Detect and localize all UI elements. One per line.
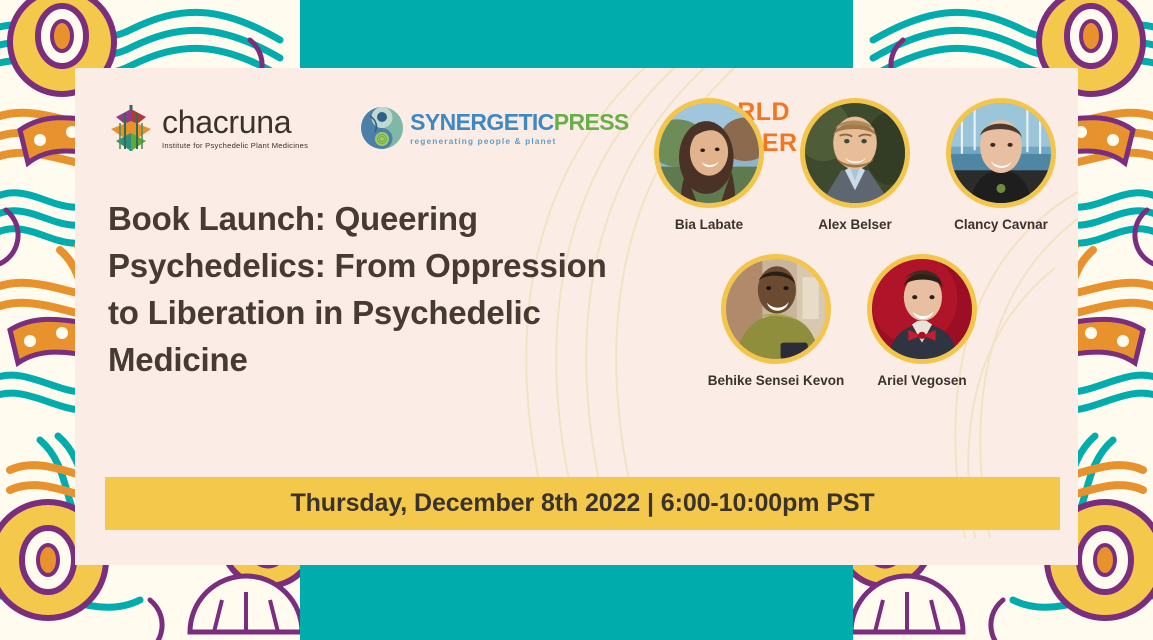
synergetic-circle-icon: [360, 106, 404, 150]
speaker-clancy-cavnar[interactable]: Clancy Cavnar: [941, 98, 1061, 232]
chacruna-wordmark: chacruna: [162, 106, 291, 138]
speaker-name: Bia Labate: [675, 217, 743, 232]
content-card: chacruna Institute for Psychedelic Plant…: [75, 68, 1078, 565]
speaker-alex-belser[interactable]: Alex Belser: [795, 98, 915, 232]
event-datetime: Thursday, December 8th 2022 | 6:00-10:00…: [290, 489, 874, 518]
speaker-grid: Bia Labate: [635, 98, 1075, 388]
logo-chacruna[interactable]: chacruna Institute for Psychedelic Plant…: [108, 103, 308, 153]
press-word: PRESS: [554, 109, 629, 135]
speaker-ariel-vegosen[interactable]: Ariel Vegosen: [862, 254, 982, 388]
speaker-row-2: Behike Sensei Kevon: [635, 254, 1075, 388]
avatar: [721, 254, 831, 364]
speaker-name: Clancy Cavnar: [954, 217, 1048, 232]
speaker-name: Ariel Vegosen: [877, 373, 966, 388]
chacruna-leaf-icon: [108, 103, 154, 153]
avatar: [800, 98, 910, 208]
avatar: [946, 98, 1056, 208]
synergetic-tagline: regenerating people & planet: [410, 136, 556, 146]
speaker-name: Behike Sensei Kevon: [708, 373, 845, 388]
speaker-behike-sensei-kevon[interactable]: Behike Sensei Kevon: [716, 254, 836, 388]
avatar: [867, 254, 977, 364]
speaker-name: Alex Belser: [818, 217, 892, 232]
date-banner: Thursday, December 8th 2022 | 6:00-10:00…: [105, 477, 1060, 530]
page-title: Book Launch: Queering Psychedelics: From…: [108, 196, 628, 383]
speaker-row-1: Bia Labate: [635, 98, 1075, 232]
chacruna-tagline: Institute for Psychedelic Plant Medicine…: [162, 141, 308, 150]
synergetic-word: SYNERGETIC: [410, 109, 554, 135]
event-poster: chacruna Institute for Psychedelic Plant…: [0, 0, 1153, 640]
speaker-bia-labate[interactable]: Bia Labate: [649, 98, 769, 232]
logo-synergetic-press[interactable]: SYNERGETICPRESS regenerating people & pl…: [360, 106, 629, 150]
avatar: [654, 98, 764, 208]
